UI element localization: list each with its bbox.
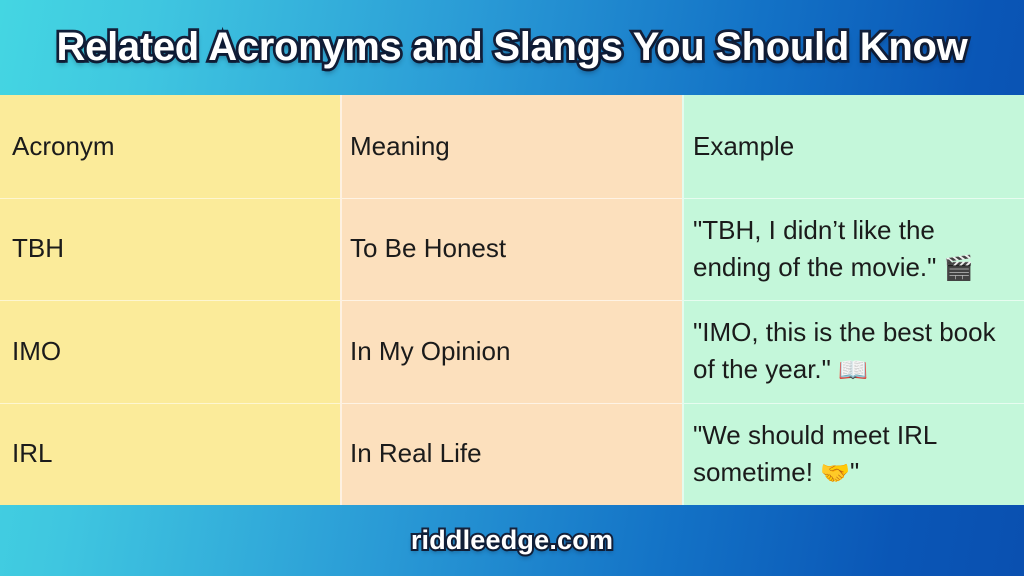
cell-meaning: In Real Life bbox=[340, 403, 682, 506]
open-book-emoji: 📖 bbox=[838, 356, 868, 384]
cell-example: "TBH, I didn’t like the ending of the mo… bbox=[682, 198, 1024, 301]
example-line-2-text: of the year." bbox=[693, 354, 831, 384]
site-watermark: riddleedge.com bbox=[411, 525, 613, 556]
example-line-2: of the year." 📖 bbox=[693, 351, 996, 388]
cell-acronym: IMO bbox=[0, 300, 340, 403]
cell-meaning: In My Opinion bbox=[340, 300, 682, 403]
example-line-2: ending of the movie." 🎬 bbox=[693, 249, 974, 286]
cell-example: "We should meet IRL sometime! 🤝" bbox=[682, 403, 1024, 506]
handshake-emoji: 🤝 bbox=[820, 459, 850, 487]
example-line-2-text: sometime! bbox=[693, 457, 813, 487]
example-line-2-text: ending of the movie." bbox=[693, 252, 936, 282]
table-row: IRL In Real Life "We should meet IRL som… bbox=[0, 403, 1024, 506]
cell-meaning: To Be Honest bbox=[340, 198, 682, 301]
example-line-2: sometime! 🤝" bbox=[693, 454, 937, 491]
clapper-board-emoji: 🎬 bbox=[944, 254, 974, 282]
title-banner: Related Acronyms and Slangs You Should K… bbox=[0, 0, 1024, 95]
column-header-meaning: Meaning bbox=[340, 95, 682, 198]
example-closing-quote: " bbox=[850, 457, 859, 487]
page-title: Related Acronyms and Slangs You Should K… bbox=[57, 25, 968, 70]
footer-banner: riddleedge.com bbox=[0, 505, 1024, 576]
table-row: IMO In My Opinion "IMO, this is the best… bbox=[0, 300, 1024, 403]
column-header-example: Example bbox=[682, 95, 1024, 198]
example-line-1: "We should meet IRL bbox=[693, 417, 937, 454]
cell-acronym: IRL bbox=[0, 403, 340, 506]
column-header-acronym: Acronym bbox=[0, 95, 340, 198]
cell-example: "IMO, this is the best book of the year.… bbox=[682, 300, 1024, 403]
cell-acronym: TBH bbox=[0, 198, 340, 301]
table-header-row: Acronym Meaning Example bbox=[0, 95, 1024, 198]
acronyms-table: Acronym Meaning Example TBH To Be Honest… bbox=[0, 95, 1024, 505]
example-line-1: "IMO, this is the best book bbox=[693, 314, 996, 351]
table-row: TBH To Be Honest "TBH, I didn’t like the… bbox=[0, 198, 1024, 301]
example-line-1: "TBH, I didn’t like the bbox=[693, 212, 974, 249]
